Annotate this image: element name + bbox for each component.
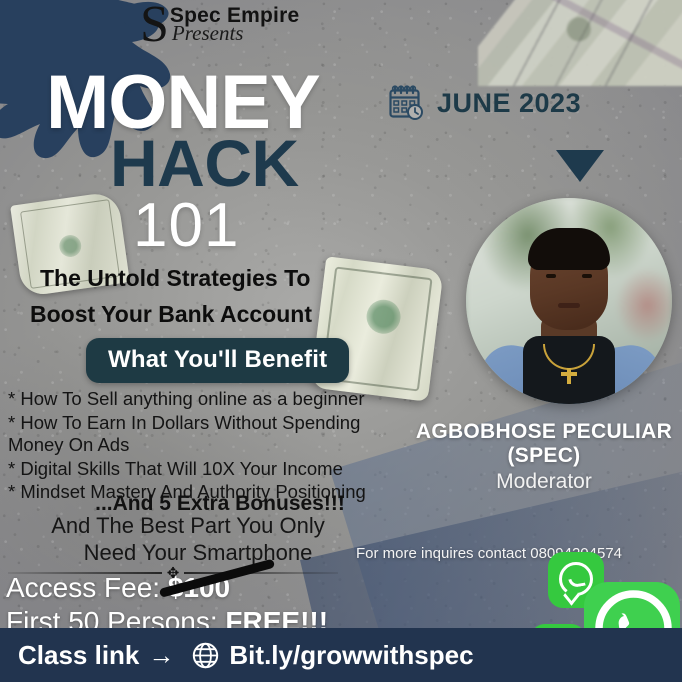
down-triangle-icon — [556, 150, 604, 182]
date-text: JUNE 2023 — [437, 88, 581, 119]
access-fee-label: Access Fee: — [6, 572, 168, 603]
list-item: * Digital Skills That Will 10X Your Inco… — [8, 458, 420, 481]
event-date: JUNE 2023 — [387, 84, 581, 122]
subheadline-line-2: Boost Your Bank Account — [30, 303, 430, 326]
access-fee-row: Access Fee: $100 — [6, 572, 230, 604]
class-link-url[interactable]: Bit.ly/growwithspec — [229, 640, 473, 671]
brand-logo: S Spec Empire Presents — [140, 2, 299, 47]
eye-right — [582, 274, 592, 278]
benefits-list: * How To Sell anything online as a begin… — [8, 388, 420, 505]
dollar-bills-photo-top — [478, 0, 682, 86]
logo-s-mark: S — [140, 4, 169, 47]
list-item: * How To Earn In Dollars Without Spendin… — [8, 412, 420, 457]
cross-pendant-icon — [567, 368, 571, 384]
moderator-role: Moderator — [406, 470, 682, 494]
contact-line: For more inquires contact 08094204574 — [356, 545, 682, 562]
mouth — [558, 303, 580, 308]
moderator-portrait — [466, 198, 672, 404]
headline-101: 101 — [133, 197, 239, 254]
eye-left — [546, 274, 556, 278]
moderator-name: AGBOBHOSE PECULIAR (SPEC) — [406, 420, 682, 467]
hair — [528, 228, 610, 270]
brand-tagline: Presents — [172, 23, 299, 44]
benefit-badge: What You'll Benefit — [86, 338, 349, 383]
calendar-clock-icon — [387, 84, 425, 122]
class-link-label: Class link — [18, 640, 139, 671]
flyer-canvas: S Spec Empire Presents MONEY HACK 101 JU… — [0, 0, 682, 682]
list-item: * How To Sell anything online as a begin… — [8, 388, 420, 411]
subheadline-line-1: The Untold Strategies To — [40, 267, 420, 290]
best-part-line-2: Need Your Smartphone — [18, 540, 378, 566]
best-part-line-1: And The Best Part You Only — [8, 513, 368, 539]
globe-icon — [192, 642, 219, 669]
footer-bar[interactable]: Class link → Bit.ly/growwithspec — [0, 628, 682, 682]
access-fee-amount: $100 — [168, 572, 230, 604]
headline-hack: HACK — [110, 133, 299, 194]
arrow-right-icon: → — [148, 640, 174, 671]
